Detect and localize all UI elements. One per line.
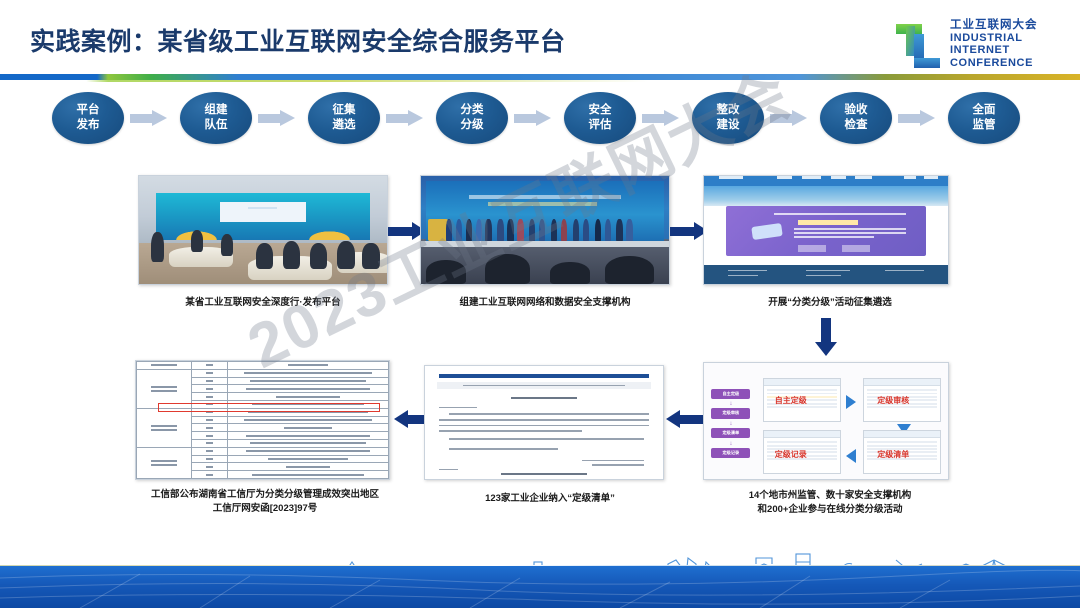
shot2-header — [864, 379, 940, 386]
ceremony-person-9 — [529, 219, 535, 241]
dashboard-arrow-1 — [846, 395, 856, 409]
photo-conference-hall[interactable] — [138, 175, 388, 285]
site-nav-item-1[interactable] — [777, 176, 792, 179]
screen-center-panel — [220, 202, 305, 222]
dashboard-connector-1: ↓ — [711, 401, 750, 407]
slide-root: 实践案例：某省级工业互联网安全综合服务平台 — [0, 0, 1080, 608]
site-footer-line-1 — [728, 270, 767, 272]
notice-body-3 — [439, 425, 648, 427]
notice-meta-bar — [437, 382, 651, 389]
dashboard-connector-2: ↓ — [711, 421, 750, 427]
site-login-link[interactable] — [904, 176, 916, 179]
flow-arrow-7 — [898, 110, 938, 127]
flow-step-1[interactable]: 平台 发布 — [52, 92, 124, 144]
flow-step-3-line2: 遴选 — [333, 118, 356, 133]
dashboard-label-grading-list: 定级清单 — [877, 449, 909, 460]
table-row — [137, 369, 389, 377]
page-title: 实践案例：某省级工业互联网安全综合服务平台 — [30, 22, 566, 58]
flow-arrow-6 — [770, 110, 810, 127]
hall-attendee-4 — [337, 241, 354, 269]
footer-water-band — [0, 566, 1080, 608]
flow-step-7-line1: 验收 — [845, 103, 868, 118]
site-footer — [704, 265, 948, 284]
screenshot-website-collection[interactable] — [703, 175, 949, 285]
flow-step-7-line2: 检查 — [845, 118, 868, 133]
site-card-headline — [798, 220, 858, 225]
shot3-header — [864, 431, 940, 438]
notice-attachment — [449, 448, 558, 450]
caption-screenshot-dashboard-grading: 14个地市州监管、数十家安全支撑机构 和200+企业参与在线分类分级活动 — [700, 489, 960, 517]
ceremony-audience-4 — [605, 256, 655, 284]
hall-person-standing — [151, 232, 163, 262]
site-nav-item-4[interactable] — [855, 176, 872, 179]
flow-arrow-3 — [386, 110, 426, 127]
shot1-header — [764, 379, 840, 386]
site-card-title — [774, 213, 906, 215]
flow-step-6[interactable]: 整改 建设 — [692, 92, 764, 144]
ceremony-person-12 — [561, 219, 567, 241]
ceremony-person-13 — [573, 219, 579, 241]
notice-body-2 — [439, 419, 648, 421]
ceremony-person-4 — [476, 219, 482, 241]
ceremony-person-7 — [507, 219, 513, 241]
dashboard-arrow-3 — [846, 449, 856, 463]
flow-step-3-line1: 征集 — [333, 103, 356, 118]
flow-step-5[interactable]: 安全 评估 — [564, 92, 636, 144]
highlight-box — [158, 403, 381, 412]
logo-text-block: 工业互联网大会 INDUSTRIAL INTERNET CONFERENCE — [950, 19, 1038, 69]
ceremony-person-2 — [456, 219, 462, 241]
ceremony-person-18 — [626, 219, 632, 241]
logo-title-en-3: CONFERENCE — [950, 57, 1038, 69]
conference-logo: 工业互联网大会 INDUSTRIAL INTERNET CONFERENCE — [892, 18, 1062, 76]
ceremony-audience-1 — [426, 260, 466, 284]
flow-step-6-line1: 整改 — [717, 103, 740, 118]
ceremony-person-1 — [446, 219, 452, 241]
dashboard-label-grading-record: 定级记录 — [775, 449, 807, 460]
notice-signature-1 — [582, 460, 644, 462]
site-card-body-1 — [794, 228, 906, 230]
ceremony-screen-title — [469, 195, 621, 199]
caption-screenshot-website-collection: 开展“分类分级”活动征集遴选 — [690, 296, 970, 310]
hall-led-screen — [156, 193, 369, 239]
flow-step-8[interactable]: 全面 监管 — [948, 92, 1020, 144]
slide-footer — [0, 530, 1080, 608]
caption-dashboard-line2: 和200+企业参与在线分类分级活动 — [700, 503, 960, 517]
site-nav-item-2[interactable] — [802, 176, 822, 179]
site-navbar — [704, 176, 948, 186]
connector-arrow-dashboard-notice — [662, 410, 704, 428]
ceremony-audience-3 — [550, 262, 590, 284]
dashboard-canvas: 自主定级 ↓ 定级审核 ↓ 定级清单 ↓ 定级记录 自主定级 — [704, 363, 948, 479]
ranking-table — [136, 361, 389, 479]
flow-step-2[interactable]: 组建 队伍 — [180, 92, 252, 144]
slide-header: 实践案例：某省级工业互联网安全综合服务平台 — [0, 0, 1080, 80]
caption-photo-conference-hall: 某省工业互联网安全深度行·发布平台 — [118, 296, 408, 310]
table-header-row — [137, 362, 389, 370]
table-row — [137, 447, 389, 455]
flow-step-7[interactable]: 验收 检查 — [820, 92, 892, 144]
dashboard-label-grading-review: 定级审核 — [877, 395, 909, 406]
flow-step-8-line2: 监管 — [973, 118, 996, 133]
flow-step-4-line1: 分类 — [461, 103, 484, 118]
screen-center-bar — [248, 207, 277, 209]
hall-attendee-5 — [362, 243, 379, 269]
footer-wave-lines-icon — [0, 566, 1080, 608]
dashboard-tag-1[interactable]: 自主定级 — [711, 389, 750, 399]
ceremony-person-5 — [485, 219, 491, 241]
ceremony-person-11 — [551, 219, 557, 241]
connector-arrow-website-dashboard — [815, 318, 837, 358]
caption-photo-ceremony: 组建工业互联网网络和数据安全支撑机构 — [400, 296, 690, 310]
logo-mark-icon — [892, 20, 946, 74]
dashboard-label-self-grading: 自主定级 — [775, 395, 807, 406]
flow-arrow-4 — [514, 110, 554, 127]
hall-person-host — [221, 234, 233, 256]
ceremony-person-10 — [539, 219, 545, 241]
flow-step-3[interactable]: 征集 遴选 — [308, 92, 380, 144]
flow-step-5-line2: 评估 — [589, 118, 612, 133]
header-divider-accent — [0, 80, 1080, 82]
flow-step-2-line2: 队伍 — [205, 118, 228, 133]
ceremony-person-8 — [517, 219, 523, 241]
process-flow: 平台 发布 组建 队伍 征集 遴选 分类 分级 安全 评估 整改 建设 — [52, 92, 1042, 148]
flow-arrow-5 — [642, 110, 682, 127]
site-logo — [719, 176, 743, 179]
notice-body-4 — [439, 430, 582, 432]
site-card-body-3 — [794, 236, 874, 238]
flow-step-4[interactable]: 分类 分级 — [436, 92, 508, 144]
hall-person-speaker — [191, 230, 203, 252]
site-collection-card[interactable] — [726, 206, 926, 256]
dashboard-connector-3: ↓ — [711, 441, 750, 447]
ceremony-person-15 — [595, 219, 601, 241]
notice-doc-number — [511, 397, 578, 399]
caption-doc-table-ranking: 工信部公布湖南省工信厅为分类分级管理成效突出地区 工信厅网安函[2023]97号 — [100, 488, 430, 516]
dashboard-tag-3[interactable]: 定级清单 — [711, 428, 750, 438]
flow-step-8-line1: 全面 — [973, 103, 996, 118]
logo-title-en-1: INDUSTRIAL — [950, 32, 1038, 44]
ceremony-audience-2 — [485, 254, 530, 284]
flow-step-6-line2: 建设 — [717, 118, 740, 133]
ceremony-person-16 — [605, 219, 611, 241]
caption-doc-notice-list: 123家工业企业纳入“定级清单” — [430, 492, 670, 506]
notice-meta-text — [463, 385, 626, 387]
flow-step-4-line2: 分级 — [461, 118, 484, 133]
site-footer-line-4 — [806, 275, 840, 277]
notice-body-5 — [449, 438, 644, 440]
screen-graphic-right — [306, 230, 353, 240]
logo-title-cn: 工业互联网大会 — [950, 19, 1038, 32]
flow-step-5-line1: 安全 — [589, 103, 612, 118]
flow-step-1-line1: 平台 — [77, 103, 100, 118]
caption-dashboard-line1: 14个地市州监管、数十家安全支撑机构 — [700, 489, 960, 503]
site-register-link[interactable] — [924, 176, 939, 179]
notice-signature-2 — [592, 464, 644, 466]
photo-ceremony[interactable] — [420, 175, 670, 285]
caption-doc-table-line1: 工信部公布湖南省工信厅为分类分级管理成效突出地区 — [100, 488, 430, 502]
notice-footnote — [439, 469, 458, 471]
ceremony-lineup — [446, 219, 644, 241]
site-footer-line-5 — [885, 270, 924, 272]
site-card-button-2[interactable] — [842, 245, 870, 252]
ceremony-stage-edge — [421, 241, 669, 247]
logo-title-en-2: INTERNET — [950, 44, 1038, 56]
ceremony-person-3 — [466, 219, 472, 241]
caption-doc-table-line2: 工信厅网安函[2023]97号 — [100, 502, 430, 516]
doc-notice-list[interactable] — [424, 365, 664, 480]
flow-step-1-line2: 发布 — [77, 118, 100, 133]
ceremony-screen-subtitle — [488, 202, 598, 206]
dashboard-tag-2[interactable]: 定级审核 — [711, 408, 750, 418]
dashboard-tag-4[interactable]: 定级记录 — [711, 448, 750, 458]
hall-attendee-1 — [256, 243, 273, 269]
site-hero-banner — [704, 186, 948, 207]
flow-arrow-2 — [258, 110, 298, 127]
hall-attendee-2 — [283, 241, 300, 269]
shot4-header — [764, 431, 840, 438]
notice-title — [439, 374, 648, 379]
site-footer-line-2 — [728, 275, 757, 277]
flow-arrow-1 — [130, 110, 170, 127]
hall-attendee-3 — [310, 243, 327, 269]
ceremony-person-17 — [616, 219, 622, 241]
doc-table-ranking[interactable] — [135, 360, 390, 480]
flow-step-2-line1: 组建 — [205, 103, 228, 118]
ceremony-person-6 — [497, 219, 503, 241]
site-card-button-1[interactable] — [798, 245, 826, 252]
notice-issuer — [501, 473, 587, 475]
site-card-illustration-icon — [751, 223, 783, 240]
site-card-body-2 — [794, 232, 906, 234]
screenshot-dashboard-grading[interactable]: 自主定级 ↓ 定级审核 ↓ 定级清单 ↓ 定级记录 自主定级 — [703, 362, 949, 480]
notice-salutation — [439, 407, 477, 409]
site-footer-line-3 — [806, 270, 850, 272]
notice-body-1 — [449, 413, 649, 415]
site-nav-item-3[interactable] — [831, 176, 846, 179]
ceremony-person-14 — [583, 219, 589, 241]
